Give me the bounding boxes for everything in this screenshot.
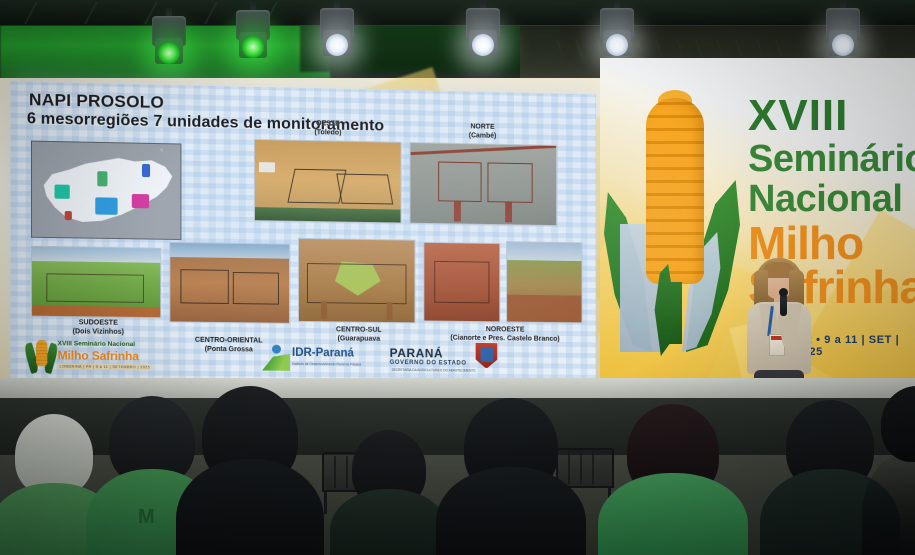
corn-cob-icon [646,98,704,284]
caption-norte: NORTE (Cambé) [413,122,551,142]
audience-member-8 [862,386,915,555]
audience-shoulders [436,467,586,555]
milho-safrinha-logo: XVIII Seminário Nacional Milho Safrinha … [25,335,159,379]
photo-centro-sul [298,238,415,323]
caption-oeste: OESTE (Toledo) [258,119,398,139]
photo-oeste [254,139,402,224]
map-region-centro-oriental [132,194,149,208]
audience-shirt-logo: M [138,506,155,529]
map-region-oeste [54,185,69,199]
audience-shoulders [176,459,324,555]
moving-head-light-5 [600,0,634,58]
presentation-photo-scene: NAPI PROSOLO 6 mesorregiões 7 unidades d… [0,0,915,555]
projected-slide: NAPI PROSOLO 6 mesorregiões 7 unidades d… [11,81,597,390]
corn-cob-icon [27,337,56,376]
milho-logo-line2: Milho Safrinha [58,348,139,363]
parana-shield-icon [475,342,499,369]
microphone-icon [780,294,787,316]
banner-nacional: Nacional [748,180,902,218]
parana-state-map: N [31,141,181,240]
map-region-noroeste [97,171,107,186]
idr-logo-title: IDR-Paraná [292,347,354,360]
idr-logo-subtitle: Instituto de Desenvolvimento Rural do Pa… [292,362,361,367]
caption-norte-city: (Cambé) [413,131,551,142]
photo-sudoeste [31,246,161,318]
audience-member-6 [598,404,748,555]
moving-head-light-6 [826,0,860,58]
audience-shoulders [862,449,915,555]
milho-logo-line3: LONDRINA | PR | 9 a 11 | SETEMBRO | 2025 [58,363,153,370]
map-region-norte [142,164,150,177]
map-region-centro-sul [95,197,117,215]
idr-parana-logo: IDR-Paraná Instituto de Desenvolvimento … [262,341,374,376]
map-region-sudoeste [65,211,72,220]
milho-logo-line1: XVIII Seminário Nacional [58,340,136,348]
audience-member-4 [330,430,448,555]
banner-corn-illustration [608,94,738,360]
moving-head-light-1 [152,8,186,66]
photo-norte [409,142,557,226]
moving-head-light-4 [466,0,500,58]
banner-seminario: Seminário [748,140,915,178]
audience-member-3 [176,386,324,555]
caption-oeste-city: (Toledo) [258,128,398,140]
photo-noroeste-a [423,242,500,323]
photo-noroeste-b [506,241,582,323]
idr-leaf-icon [262,344,290,370]
photo-centro-oriental [169,242,290,324]
slide-title: NAPI PROSOLO [29,90,164,113]
moving-head-light-2 [236,2,270,60]
audience-shoulders [598,473,748,555]
banner-roman-numeral: XVIII [748,94,848,138]
parana-governo-logo: PARANÁ GOVERNO DO ESTADO SECRETARIA DA A… [386,341,505,380]
parana-logo-title: PARANÁ [390,346,444,361]
audience-shoulders [330,489,448,555]
parana-logo-department: SECRETARIA DA AGRICULTURA E DO ABASTECIM… [392,368,476,373]
moving-head-light-3 [320,0,354,58]
lighting-truss [0,0,915,26]
parana-logo-subtitle: GOVERNO DO ESTADO [390,360,467,367]
audience-member-5 [436,398,586,555]
